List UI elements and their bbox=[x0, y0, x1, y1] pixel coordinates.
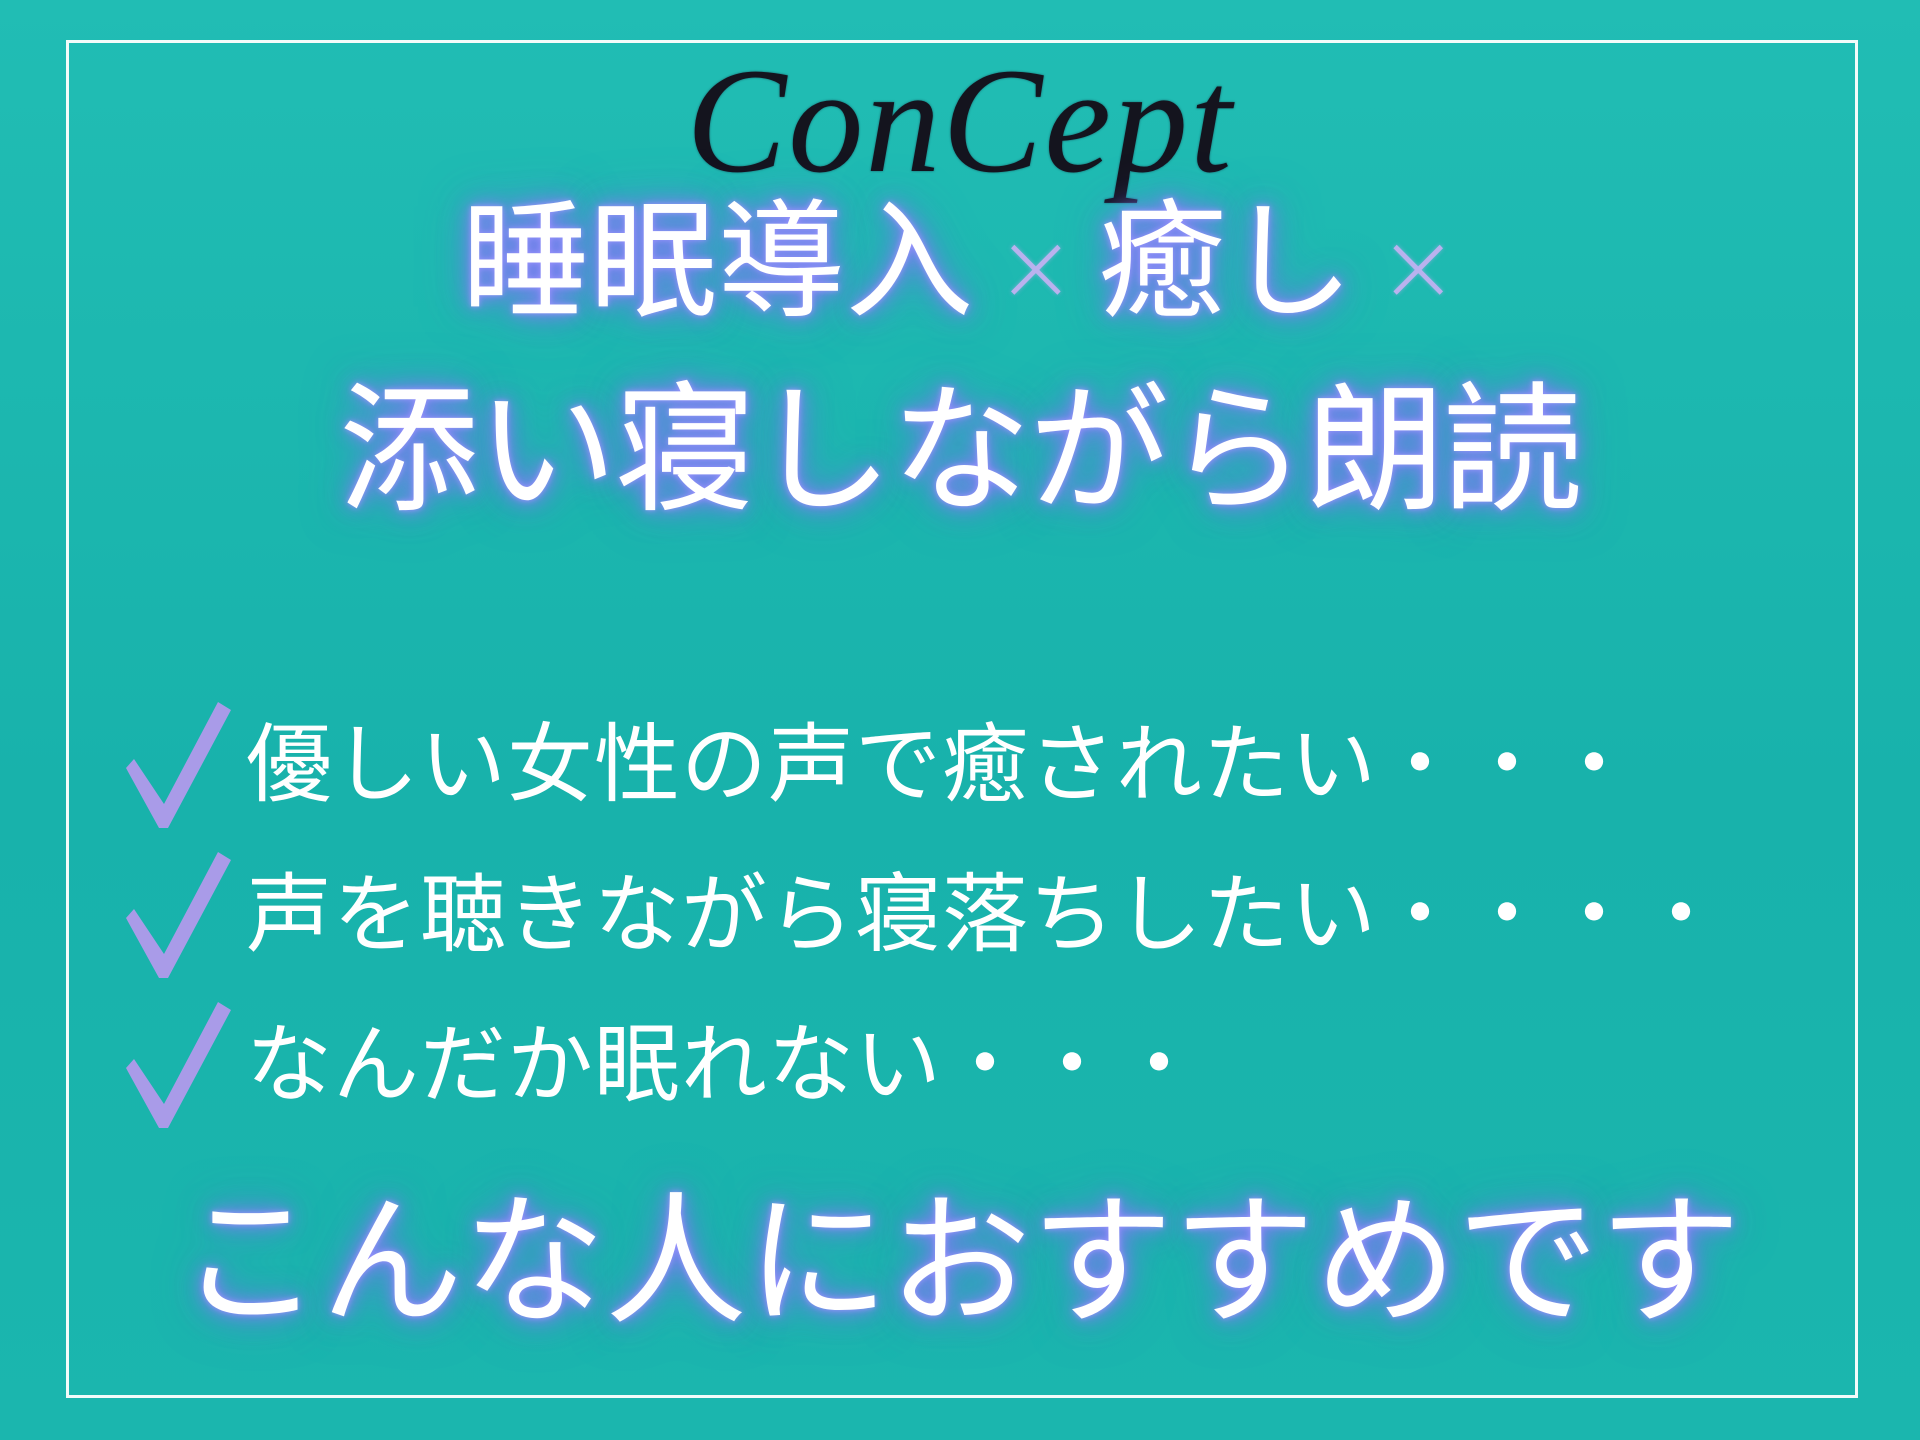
check-icon bbox=[118, 700, 238, 830]
benefits-checklist: 優しい女性の声で癒されたい・・・ 声を聴きながら寝落ちしたい・・・・ なんだか眠… bbox=[118, 690, 1860, 1140]
tagline-label: こんな人におすすめです bbox=[179, 1180, 1741, 1345]
headline-reading-aloud: 添い寝しながら朗読 bbox=[339, 378, 1581, 525]
multiply-icon-2: × bbox=[1378, 219, 1458, 315]
check-icon bbox=[118, 850, 238, 980]
list-item-label: なんだか眠れない・・・ bbox=[246, 1018, 1203, 1113]
check-icon bbox=[118, 1000, 238, 1130]
list-item-label: 声を聴きながら寝落ちしたい・・・・ bbox=[246, 868, 1725, 963]
list-item: 優しい女性の声で癒されたい・・・ bbox=[118, 690, 1860, 840]
concept-slide: ConCept 睡眠導入 × 癒し × 添い寝しながら朗読 優しい女性の声で癒さ… bbox=[0, 0, 1920, 1440]
list-item: なんだか眠れない・・・ bbox=[118, 990, 1860, 1140]
headline-part-healing: 癒し bbox=[1098, 196, 1354, 330]
headline-line-2: 添い寝しながら朗読 bbox=[0, 378, 1920, 525]
slide-content: ConCept 睡眠導入 × 癒し × 添い寝しながら朗読 優しい女性の声で癒さ… bbox=[0, 0, 1920, 1440]
list-item: 声を聴きながら寝落ちしたい・・・・ bbox=[118, 840, 1860, 990]
page-title: ConCept bbox=[0, 46, 1920, 196]
multiply-icon-1: × bbox=[996, 219, 1076, 315]
tagline: こんな人におすすめです bbox=[0, 1188, 1920, 1337]
headline-part-sleep-induction: 睡眠導入 bbox=[462, 196, 974, 330]
list-item-label: 優しい女性の声で癒されたい・・・ bbox=[246, 718, 1638, 813]
headline-line-1: 睡眠導入 × 癒し × bbox=[0, 196, 1920, 330]
